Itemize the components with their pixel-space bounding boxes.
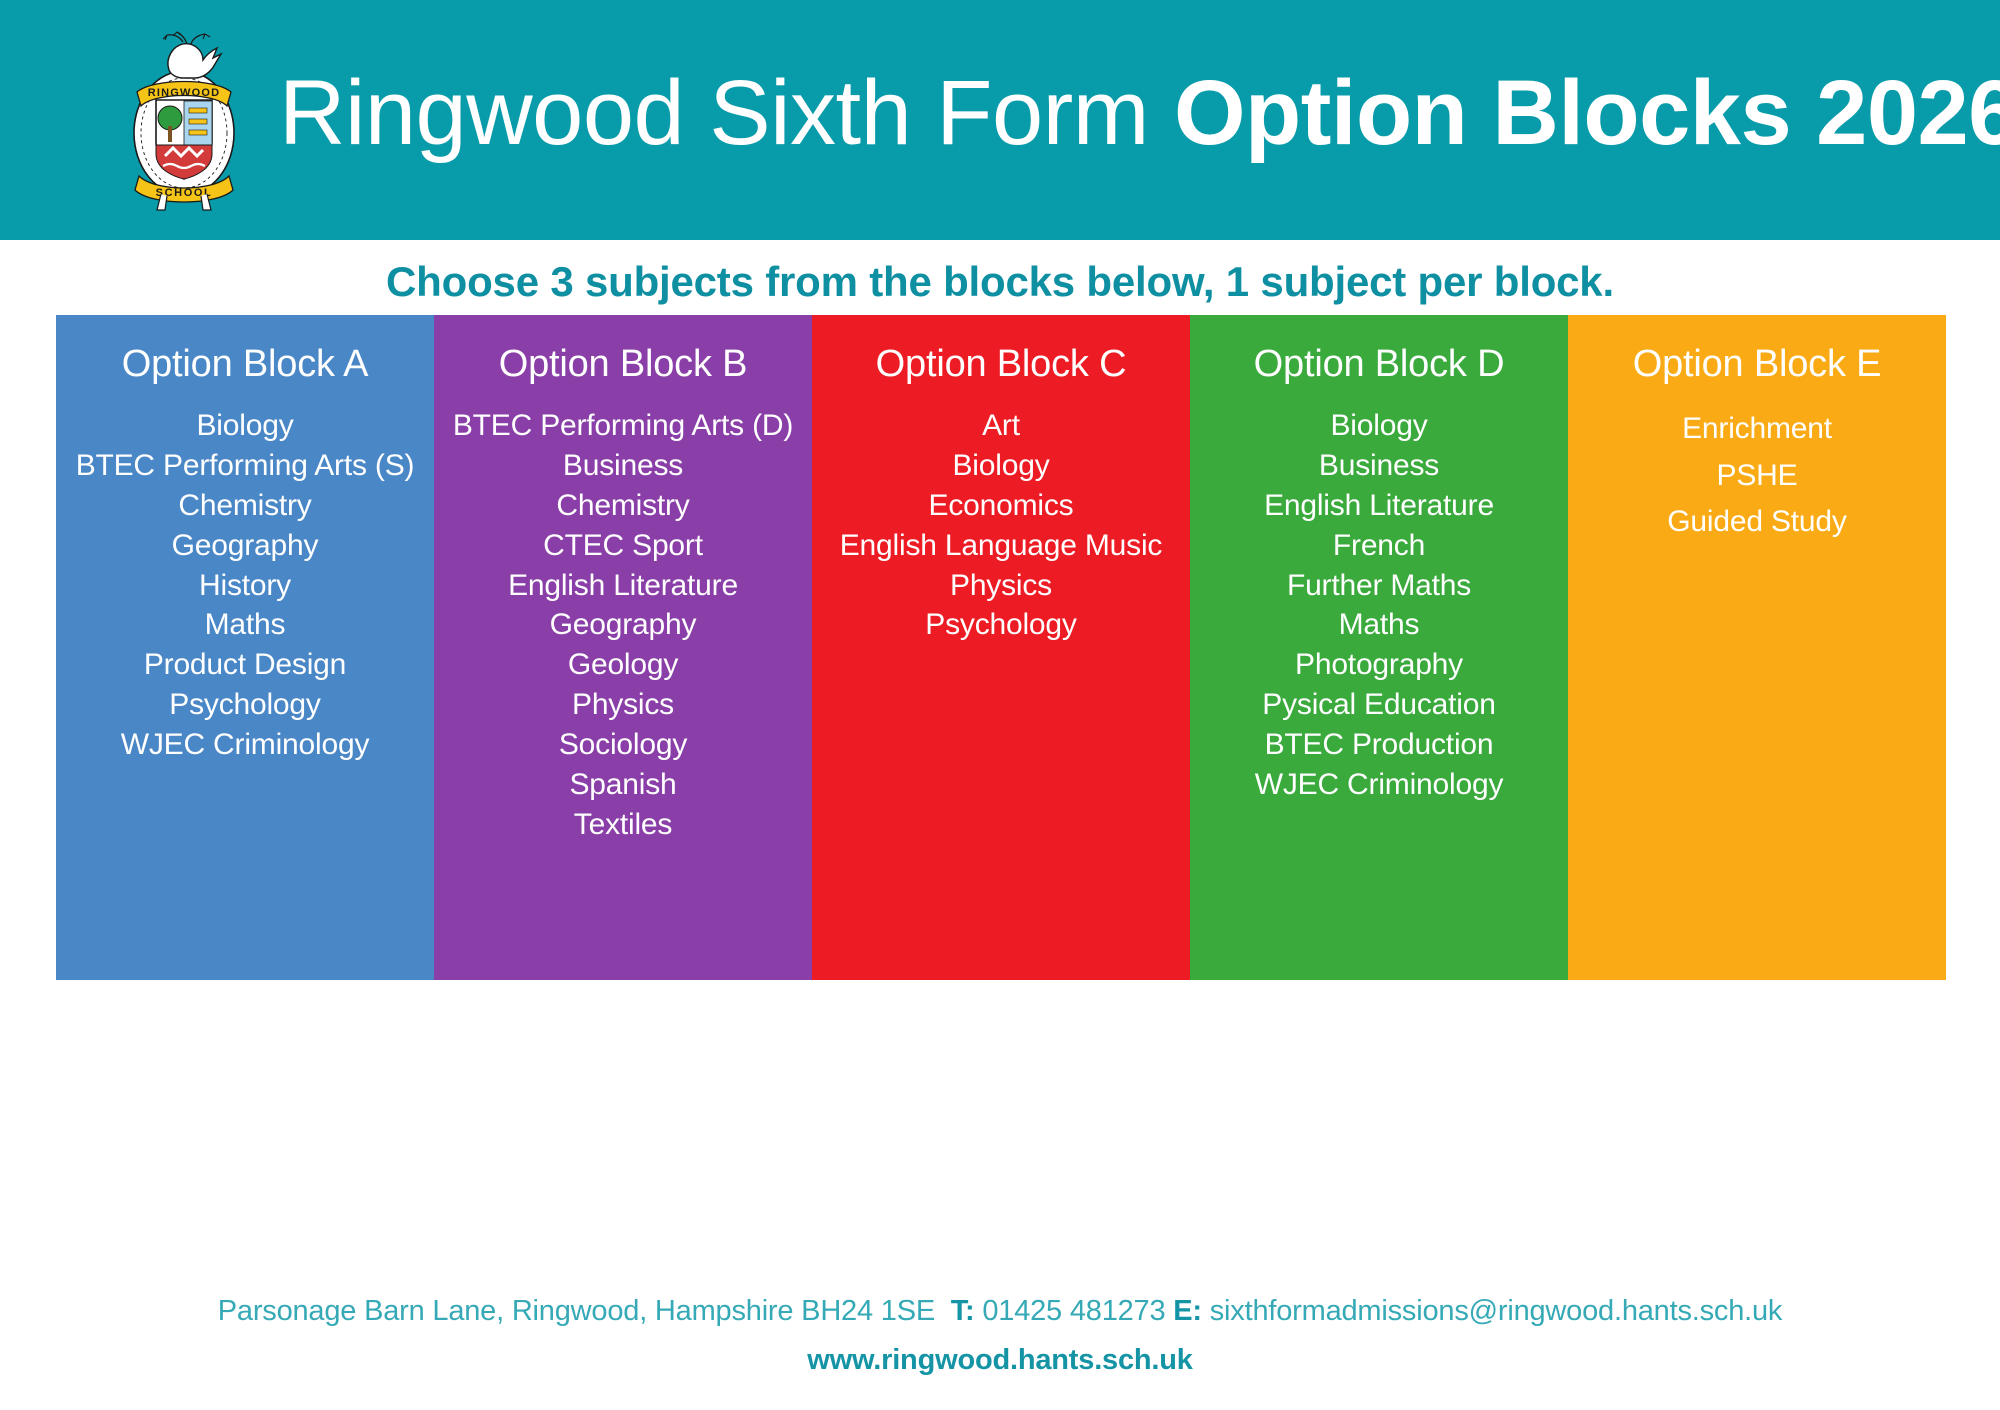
subject-item: Geography — [434, 605, 812, 645]
subject-item: Physics — [812, 566, 1190, 606]
footer-phone: 01425 481273 — [982, 1295, 1165, 1327]
subject-item: French — [1190, 526, 1568, 566]
subject-item: BTEC Performing Arts (S) — [56, 446, 434, 486]
subject-item: Pysical Education — [1190, 685, 1568, 725]
option-block-a-title: Option Block A — [56, 343, 434, 386]
footer-website[interactable]: www.ringwood.hants.sch.uk — [0, 1344, 2000, 1377]
subject-item: Business — [1190, 446, 1568, 486]
subject-item: Psychology — [56, 685, 434, 725]
subject-item: History — [56, 566, 434, 606]
subject-item: Further Maths — [1190, 566, 1568, 606]
subject-item: Textiles — [434, 805, 812, 845]
subject-item: Geology — [434, 645, 812, 685]
intro-headline: Choose 3 subjects from the blocks below,… — [0, 258, 2000, 306]
page-title: Ringwood Sixth Form Option Blocks 2026 — [279, 67, 2000, 173]
subject-item: Spanish — [434, 765, 812, 805]
svg-text:RINGWOOD: RINGWOOD — [148, 87, 221, 99]
footer-email-label: E: — [1173, 1295, 1202, 1327]
option-blocks-grid: Option Block A BiologyBTEC Performing Ar… — [56, 315, 1946, 980]
subject-item: Product Design — [56, 645, 434, 685]
subject-item: Art — [812, 406, 1190, 446]
option-block-b-subjects: BTEC Performing Arts (D)BusinessChemistr… — [434, 406, 812, 845]
option-block-e-subjects: EnrichmentPSHEGuided Study — [1568, 406, 1946, 546]
option-block-c-title: Option Block C — [812, 343, 1190, 386]
subject-item: Business — [434, 446, 812, 486]
option-block-d: Option Block D BiologyBusinessEnglish Li… — [1190, 315, 1568, 980]
subject-item: Sociology — [434, 725, 812, 765]
option-block-d-subjects: BiologyBusinessEnglish LiteratureFrenchF… — [1190, 406, 1568, 805]
subject-item: Biology — [56, 406, 434, 446]
footer-contact-line: Parsonage Barn Lane, Ringwood, Hampshire… — [0, 1295, 2000, 1328]
footer-address: Parsonage Barn Lane, Ringwood, Hampshire… — [218, 1295, 935, 1327]
subject-item: English Literature — [1190, 486, 1568, 526]
subject-item: Enrichment — [1568, 406, 1946, 453]
page-footer: Parsonage Barn Lane, Ringwood, Hampshire… — [0, 1295, 2000, 1377]
ringwood-school-crest-icon: RINGWOOD SCHOOL — [125, 30, 243, 215]
subject-item: Economics — [812, 486, 1190, 526]
page-header: RINGWOOD SCHOOL — [0, 0, 2000, 240]
subject-item: BTEC Performing Arts (D) — [434, 406, 812, 446]
page-title-bold: Option Blocks 2026 — [1174, 62, 2000, 164]
subject-item: BTEC Production — [1190, 725, 1568, 765]
option-block-d-title: Option Block D — [1190, 343, 1568, 386]
page-title-light: Ringwood Sixth Form — [279, 62, 1174, 164]
subject-item: Biology — [812, 446, 1190, 486]
subject-item: English Literature — [434, 566, 812, 606]
subject-item: PSHE — [1568, 453, 1946, 500]
subject-item: Guided Study — [1568, 499, 1946, 546]
option-block-a: Option Block A BiologyBTEC Performing Ar… — [56, 315, 434, 980]
subject-item: Biology — [1190, 406, 1568, 446]
option-block-b: Option Block B BTEC Performing Arts (D)B… — [434, 315, 812, 980]
subject-item: Chemistry — [434, 486, 812, 526]
subject-item: Chemistry — [56, 486, 434, 526]
footer-phone-label: T: — [951, 1295, 975, 1327]
option-block-e: Option Block E EnrichmentPSHEGuided Stud… — [1568, 315, 1946, 980]
subject-item: Photography — [1190, 645, 1568, 685]
subject-item: Maths — [1190, 605, 1568, 645]
subject-item: Geography — [56, 526, 434, 566]
footer-email[interactable]: sixthformadmissions@ringwood.hants.sch.u… — [1210, 1295, 1782, 1327]
option-block-b-title: Option Block B — [434, 343, 812, 386]
option-block-c: Option Block C ArtBiologyEconomicsEnglis… — [812, 315, 1190, 980]
option-block-a-subjects: BiologyBTEC Performing Arts (S)Chemistry… — [56, 406, 434, 765]
subject-item: Maths — [56, 605, 434, 645]
option-block-c-subjects: ArtBiologyEconomicsEnglish Language Musi… — [812, 406, 1190, 645]
subject-item: CTEC Sport — [434, 526, 812, 566]
subject-item: WJEC Criminology — [1190, 765, 1568, 805]
subject-item: Psychology — [812, 605, 1190, 645]
option-blocks-poster: RINGWOOD SCHOOL — [0, 0, 2000, 1410]
option-block-e-title: Option Block E — [1568, 343, 1946, 386]
subject-item: Physics — [434, 685, 812, 725]
subject-item: WJEC Criminology — [56, 725, 434, 765]
subject-item: English Language Music — [812, 526, 1190, 566]
